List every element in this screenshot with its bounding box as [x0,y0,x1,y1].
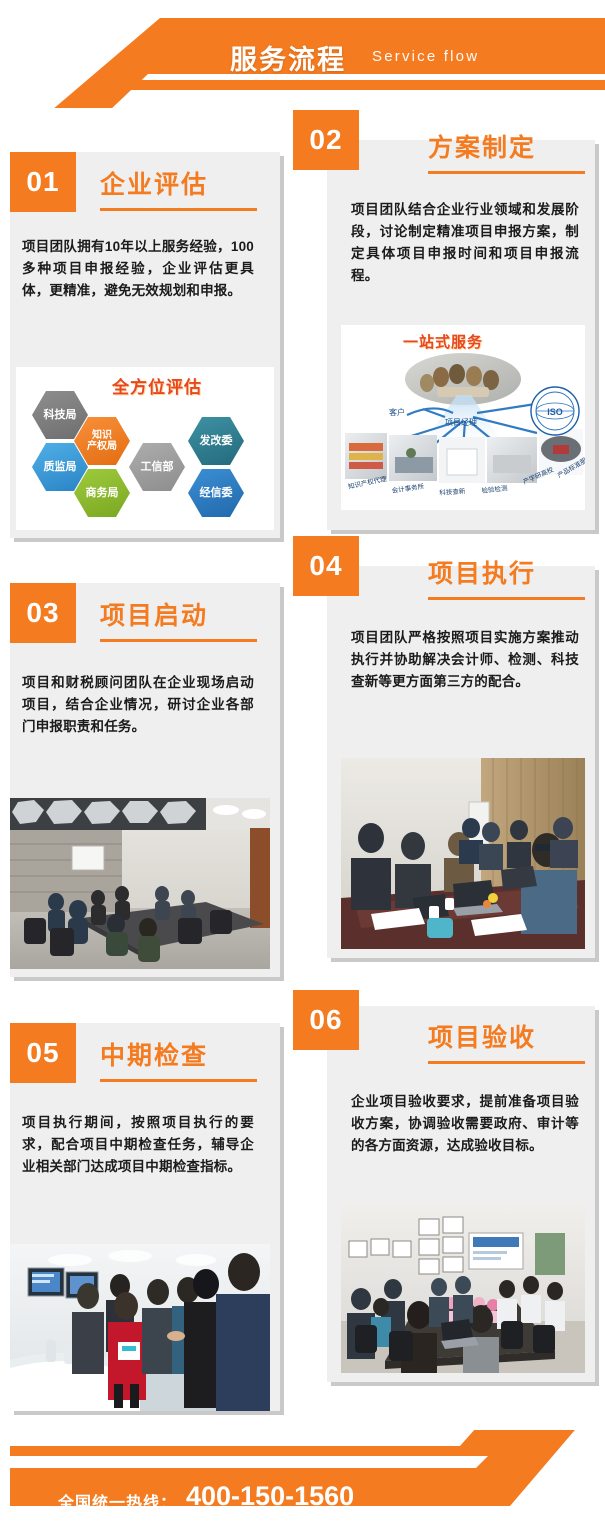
one-stop-node-customer: 客户 [389,407,405,418]
card-03-body: 项目和财税顾问团队在企业现场启动项目，结合企业情况，研讨企业各部门申报职责和任务… [22,672,254,738]
card-03-photo-conference-room [10,798,270,969]
footer-hotline-number: 400-150-1560 [186,1481,354,1512]
card-01-body: 项目团队拥有10年以上服务经验，100多种项目申报经验，企业评估更具体，更精准，… [22,236,254,302]
card-06-body: 企业项目验收要求，提前准备项目验收方案，协调验收需要政府、审计等的各方面资源，达… [351,1091,579,1157]
card-03-number-badge: 03 [10,583,76,643]
conference-room-illustration [10,798,270,969]
one-stop-title: 一站式服务 [403,331,483,352]
card-05-number-badge: 05 [10,1023,76,1083]
hex-node-fagaiwei: 发改委 [188,417,244,465]
card-05-title-rule [100,1079,257,1082]
card-03-title: 项目启动 [100,596,208,632]
card-02-title: 方案制定 [428,128,536,164]
card-04-body: 项目团队严格按照项目实施方案推动执行并协助解决会计师、检测、科技查新等更方面第三… [351,627,579,693]
hex-node-label: 商务局 [86,487,119,500]
card-04-number-badge: 04 [293,536,359,596]
card-03-title-rule [100,639,257,642]
card-05-body: 项目执行期间，按照项目执行的要求，配合项目中期检查任务，辅导企业相关部门达成项目… [22,1112,254,1178]
card-04-title-rule [428,597,585,600]
acceptance-meeting-illustration [341,1203,585,1373]
page-header: 服务流程 Service flow [0,0,605,108]
one-stop-caption-novelty: 科技查新 [439,485,466,497]
hex-graphic-title: 全方位评估 [112,373,202,398]
card-02-one-stop-graphic: ISO 一站式服务 客户 项目经理 知识产权代理 会计事务所 科技查新 检验检测… [341,325,585,510]
card-01-title: 企业评估 [100,165,208,201]
card-01-number-badge: 01 [10,152,76,212]
hex-node-label: 发改委 [200,435,233,448]
header-subtitle: Service flow [372,48,479,65]
card-06-title: 项目验收 [428,1018,536,1054]
hex-node-label: 经信委 [200,487,233,500]
site-visit-illustration [10,1244,270,1411]
card-04-title: 项目执行 [428,554,536,590]
svg-text:ISO: ISO [547,407,563,417]
card-01-title-rule [100,208,257,211]
hex-node-label: 质监局 [44,461,77,474]
card-02-body: 项目团队结合企业行业领域和发展阶段，讨论制定精准项目申报方案，制定具体项目申报时… [351,199,579,286]
hex-node-label: 工信部 [141,461,174,474]
footer-hotline-label: 全国统一热线： [58,1489,177,1513]
meeting-laptops-illustration [341,758,585,949]
card-01-hex-graphic: 全方位评估 科技局 质监局 知识产权局 商务局 工信部 发改委 经信委 [16,367,274,530]
card-04-photo-meeting-laptops [341,758,585,949]
hex-node-gongxinbu: 工信部 [129,443,185,491]
card-02-title-rule [428,171,585,174]
hex-node-label: 知识产权局 [87,430,117,453]
hex-node-label: 科技局 [44,409,77,422]
card-05-title: 中期检查 [100,1036,208,1072]
card-06-photo-acceptance-meeting [341,1203,585,1373]
card-06-title-rule [428,1061,585,1064]
card-06-number-badge: 06 [293,990,359,1050]
card-05-photo-site-visit [10,1244,270,1411]
header-title: 服务流程 [230,38,346,77]
hex-node-jingxinwei: 经信委 [188,469,244,517]
card-02-number-badge: 02 [293,110,359,170]
one-stop-node-manager: 项目经理 [445,417,477,428]
